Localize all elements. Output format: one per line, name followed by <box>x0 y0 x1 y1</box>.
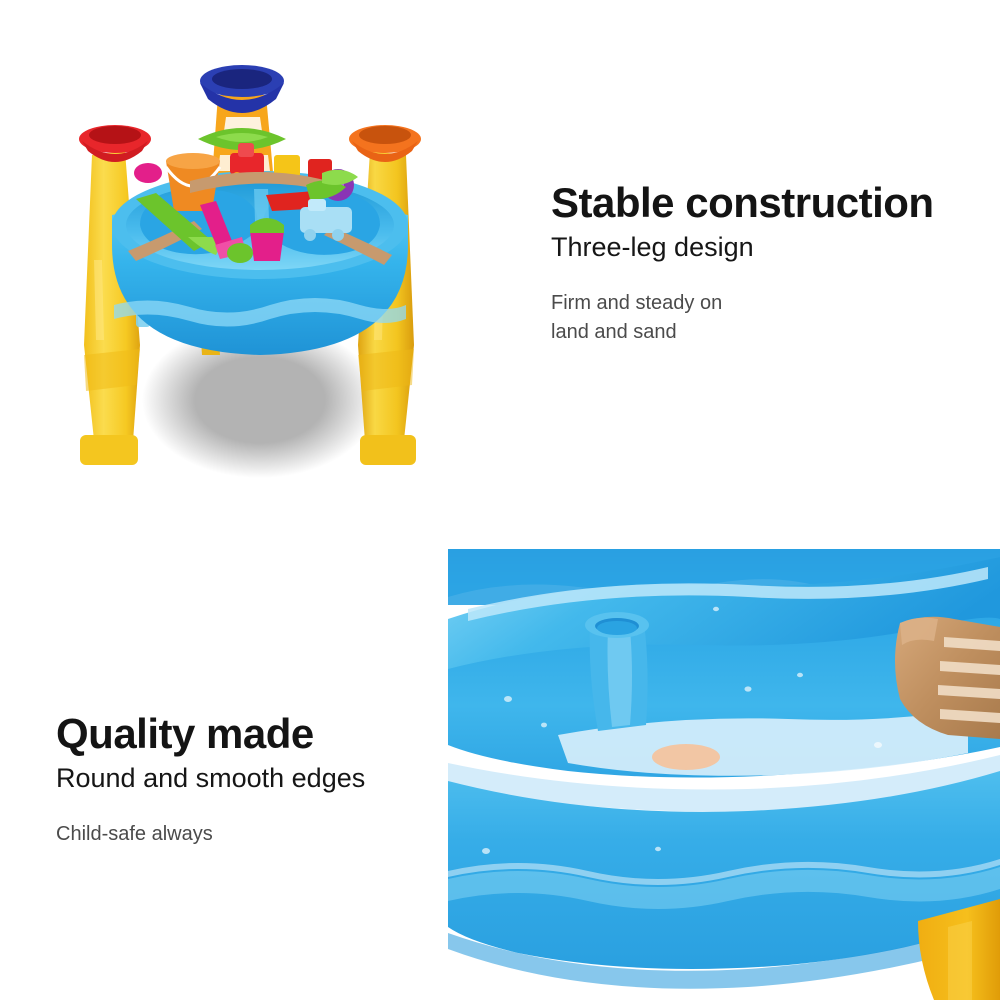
toy-pink-roller <box>134 163 162 183</box>
subhead-three-leg-design: Three-leg design <box>551 233 934 263</box>
product-photo-full-table <box>70 55 450 495</box>
feature-block-quality-made: Quality made Round and smooth edges Chil… <box>56 713 365 849</box>
headline-stable-construction: Stable construction <box>551 182 934 224</box>
subhead-round-smooth-edges: Round and smooth edges <box>56 764 365 794</box>
infographic-page: Stable construction Three-leg design Fir… <box>0 0 1000 1000</box>
body-line: Child-safe always <box>56 820 365 849</box>
body-line: land and sand <box>551 318 934 347</box>
basin-drain-disc <box>652 744 720 770</box>
toy-red-cup <box>79 125 151 162</box>
headline-quality-made: Quality made <box>56 713 365 755</box>
feature-block-stable-construction: Stable construction Three-leg design Fir… <box>551 182 934 347</box>
body-quality-made: Child-safe always <box>56 820 365 849</box>
toy-blue-funnel <box>200 65 284 113</box>
toy-orange-cup <box>349 125 421 162</box>
body-stable-construction: Firm and steady on land and sand <box>551 289 934 347</box>
product-photo-basin-closeup <box>448 549 1000 1000</box>
body-line: Firm and steady on <box>551 289 934 318</box>
